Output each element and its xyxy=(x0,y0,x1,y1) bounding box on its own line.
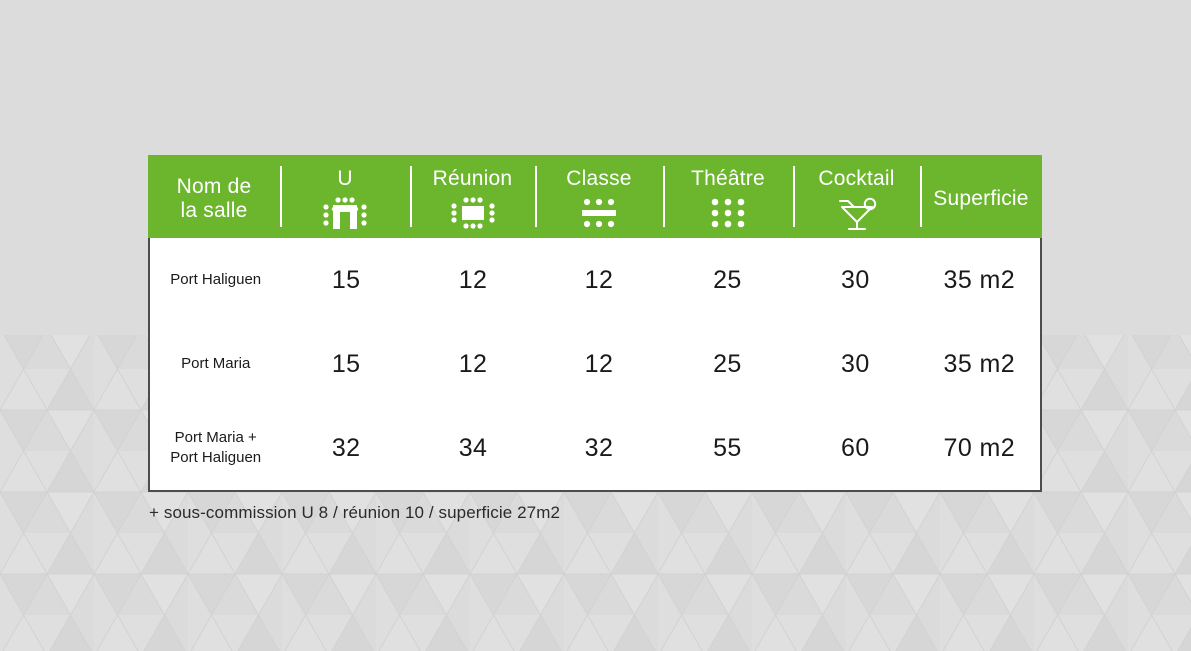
cell-cocktail: 60 xyxy=(792,434,918,463)
cell-room-name-line2: Port Haliguen xyxy=(170,449,261,466)
cell-room-name: Port Maria xyxy=(150,354,281,374)
cell-superficie: 35 m2 xyxy=(919,350,1040,379)
column-header-reunion: Réunion xyxy=(410,155,535,238)
cell-room-name: Port Haliguen xyxy=(150,270,281,290)
cell-cocktail: 30 xyxy=(792,266,918,295)
cell-reunion: 12 xyxy=(411,266,535,295)
column-header-classe: Classe xyxy=(535,155,663,238)
table-header-row: Nom de la salle U xyxy=(148,155,1042,238)
cell-u: 15 xyxy=(281,266,410,295)
column-header-label: Cocktail xyxy=(818,167,894,191)
theatre-seating-icon xyxy=(705,196,751,230)
cell-theatre: 25 xyxy=(663,350,792,379)
cell-reunion: 34 xyxy=(411,434,535,463)
cell-room-name-line1: Port Maria + xyxy=(175,429,257,446)
classroom-icon xyxy=(576,196,622,230)
cell-room-name: Port Maria + Port Haliguen xyxy=(150,428,281,469)
column-header-label: Réunion xyxy=(433,167,513,191)
cell-cocktail: 30 xyxy=(792,350,918,379)
column-header-label-line1: Nom de xyxy=(177,175,252,198)
cell-classe: 32 xyxy=(535,434,662,463)
capacity-table: Nom de la salle U xyxy=(148,155,1042,492)
column-header-nom-de-la-salle: Nom de la salle xyxy=(148,155,280,238)
boardroom-table-icon xyxy=(450,196,496,230)
cell-superficie: 70 m2 xyxy=(919,434,1040,463)
table-row: Port Maria 15 12 12 25 30 35 m2 xyxy=(150,322,1040,406)
cell-u: 15 xyxy=(281,350,410,379)
cocktail-glass-icon xyxy=(833,196,881,230)
cell-classe: 12 xyxy=(535,266,662,295)
column-header-label: Superficie xyxy=(933,187,1028,211)
cell-reunion: 12 xyxy=(411,350,535,379)
column-header-label: U xyxy=(337,167,352,191)
u-table-icon xyxy=(322,196,368,230)
column-header-u: U xyxy=(280,155,410,238)
table-row: Port Haliguen 15 12 12 25 30 35 m2 xyxy=(150,238,1040,322)
cell-theatre: 25 xyxy=(663,266,792,295)
column-header-label: Nom de la salle xyxy=(177,175,252,222)
column-header-label: Théâtre xyxy=(691,167,765,191)
cell-room-name-line1: Port Maria xyxy=(181,354,250,374)
cell-u: 32 xyxy=(281,434,410,463)
cell-theatre: 55 xyxy=(663,434,792,463)
cell-classe: 12 xyxy=(535,350,662,379)
cell-room-name-line1: Port Haliguen xyxy=(170,270,261,290)
column-header-label: Classe xyxy=(566,167,631,191)
table-body: Port Haliguen 15 12 12 25 30 35 m2 Port … xyxy=(148,238,1042,492)
cell-superficie: 35 m2 xyxy=(919,266,1040,295)
column-header-theatre: Théâtre xyxy=(663,155,793,238)
column-header-cocktail: Cocktail xyxy=(793,155,920,238)
table-row: Port Maria + Port Haliguen 32 34 32 55 6… xyxy=(150,406,1040,490)
column-header-superficie: Superficie xyxy=(920,155,1042,238)
column-header-label-line2: la salle xyxy=(181,199,248,222)
footnote-text: + sous-commission U 8 / réunion 10 / sup… xyxy=(149,503,560,523)
